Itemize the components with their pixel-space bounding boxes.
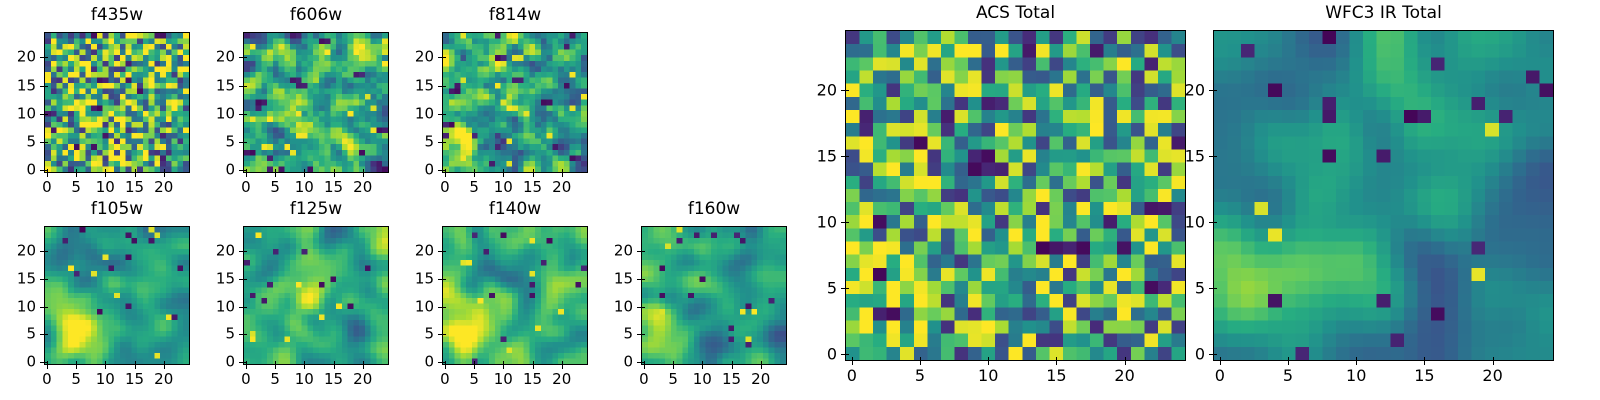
y-tick-mark-inner <box>442 170 446 171</box>
y-tick-mark-inner <box>243 57 247 58</box>
y-tick-mark-inner <box>845 222 849 223</box>
panel-title-wfc3-ir-total: WFC3 IR Total <box>1213 4 1554 22</box>
x-tick-mark-inner <box>105 169 106 173</box>
x-tick-mark <box>164 365 165 369</box>
y-tick-label: 0 <box>1171 347 1205 362</box>
y-tick-label: 5 <box>599 327 633 342</box>
y-tick-mark-inner <box>442 114 446 115</box>
x-tick-mark <box>334 365 335 369</box>
x-tick-label: 5 <box>668 372 678 387</box>
heatmap-image-f435w <box>45 33 189 172</box>
heatmap-axes-f435w <box>44 32 190 173</box>
x-tick-mark <box>474 365 475 369</box>
x-tick-label: 20 <box>1482 368 1502 383</box>
x-tick-mark-inner <box>702 361 703 365</box>
y-tick-mark-inner <box>845 354 849 355</box>
x-tick-label: 20 <box>154 372 173 387</box>
y-tick-mark-inner <box>845 90 849 91</box>
x-tick-label: 0 <box>639 372 649 387</box>
x-tick-mark <box>246 365 247 369</box>
x-tick-label: 5 <box>469 180 479 195</box>
y-tick-mark-inner <box>1213 90 1217 91</box>
x-tick-mark-inner <box>474 169 475 173</box>
x-tick-mark-inner <box>135 361 136 365</box>
x-tick-mark <box>334 173 335 177</box>
y-tick-label: 20 <box>2 50 36 65</box>
y-tick-label: 0 <box>201 355 235 370</box>
heatmap-image-f814w <box>443 33 587 172</box>
y-tick-label: 10 <box>2 106 36 121</box>
panel-f125w: f125w0510152005101520 <box>243 200 389 389</box>
y-tick-label: 0 <box>400 355 434 370</box>
y-tick-label: 10 <box>400 106 434 121</box>
x-tick-mark-inner <box>363 361 364 365</box>
panel-f140w: f140w0510152005101520 <box>442 200 588 389</box>
y-tick-label: 5 <box>2 134 36 149</box>
heatmap-image-f160w <box>642 227 786 364</box>
x-tick-mark <box>474 173 475 177</box>
heatmap-axes-f125w <box>243 226 389 365</box>
y-tick-mark-inner <box>44 362 48 363</box>
y-tick-mark-inner <box>44 307 48 308</box>
panel-title-f140w: f140w <box>442 200 588 218</box>
x-tick-label: 20 <box>751 372 770 387</box>
y-tick-mark-inner <box>641 334 645 335</box>
x-tick-mark <box>702 365 703 369</box>
x-tick-mark <box>135 365 136 369</box>
x-tick-mark <box>673 365 674 369</box>
x-tick-label: 0 <box>1215 368 1225 383</box>
x-tick-mark-inner <box>474 361 475 365</box>
x-tick-mark-inner <box>1356 357 1357 361</box>
y-tick-mark-inner <box>442 251 446 252</box>
x-tick-mark <box>1056 361 1057 365</box>
x-tick-label: 5 <box>1283 368 1293 383</box>
x-tick-mark-inner <box>164 361 165 365</box>
y-tick-label: 10 <box>2 299 36 314</box>
y-tick-label: 20 <box>599 244 633 259</box>
x-tick-mark-inner <box>852 357 853 361</box>
heatmap-image-wfc3-ir-total <box>1214 31 1553 360</box>
x-tick-label: 20 <box>552 372 571 387</box>
x-tick-label: 10 <box>978 368 998 383</box>
y-tick-label: 10 <box>201 106 235 121</box>
y-tick-label: 5 <box>201 327 235 342</box>
y-tick-label: 10 <box>1171 214 1205 229</box>
heatmap-image-f105w <box>45 227 189 364</box>
y-tick-label: 10 <box>400 299 434 314</box>
y-tick-mark-inner <box>44 142 48 143</box>
x-tick-label: 15 <box>722 372 741 387</box>
x-tick-mark <box>732 365 733 369</box>
y-tick-label: 20 <box>400 244 434 259</box>
x-tick-label: 10 <box>494 180 513 195</box>
heatmap-axes-f105w <box>44 226 190 365</box>
x-tick-mark <box>503 365 504 369</box>
panel-wfc3-ir-total: WFC3 IR Total0510152005101520 <box>1213 4 1554 385</box>
x-tick-mark <box>1125 361 1126 365</box>
x-tick-label: 20 <box>1114 368 1134 383</box>
panel-f814w: f814w0510152005101520 <box>442 6 588 197</box>
y-tick-label: 0 <box>803 347 837 362</box>
y-tick-label: 15 <box>400 271 434 286</box>
y-tick-mark-inner <box>442 307 446 308</box>
y-tick-label: 15 <box>2 78 36 93</box>
y-tick-mark-inner <box>243 170 247 171</box>
x-tick-mark <box>304 365 305 369</box>
x-tick-mark <box>533 365 534 369</box>
x-tick-mark <box>761 365 762 369</box>
y-tick-label: 0 <box>201 163 235 178</box>
y-tick-label: 20 <box>400 50 434 65</box>
x-tick-label: 10 <box>96 372 115 387</box>
y-tick-mark-inner <box>44 334 48 335</box>
y-tick-mark-inner <box>442 142 446 143</box>
panel-title-f606w: f606w <box>243 6 389 24</box>
y-tick-label: 5 <box>1171 281 1205 296</box>
x-tick-mark-inner <box>304 169 305 173</box>
x-tick-mark-inner <box>732 361 733 365</box>
y-tick-label: 20 <box>2 244 36 259</box>
x-tick-mark <box>920 361 921 365</box>
heatmap-axes-f814w <box>442 32 588 173</box>
panel-acs-total: ACS Total0510152005101520 <box>845 4 1186 385</box>
x-tick-mark <box>852 361 853 365</box>
x-tick-label: 0 <box>847 368 857 383</box>
y-tick-mark-inner <box>641 362 645 363</box>
x-tick-mark <box>164 173 165 177</box>
x-tick-label: 10 <box>295 180 314 195</box>
heatmap-image-acs-total <box>846 31 1185 360</box>
x-tick-label: 0 <box>241 180 251 195</box>
y-tick-mark-inner <box>1213 222 1217 223</box>
x-tick-mark <box>562 173 563 177</box>
y-tick-mark-inner <box>442 362 446 363</box>
x-tick-mark <box>105 365 106 369</box>
heatmap-axes-f160w <box>641 226 787 365</box>
heatmap-axes-acs-total <box>845 30 1186 361</box>
x-tick-mark-inner <box>1125 357 1126 361</box>
y-tick-mark-inner <box>442 279 446 280</box>
x-tick-mark <box>562 365 563 369</box>
x-tick-label: 15 <box>1046 368 1066 383</box>
y-tick-label: 0 <box>2 163 36 178</box>
x-tick-label: 5 <box>915 368 925 383</box>
y-tick-label: 15 <box>201 78 235 93</box>
x-tick-mark-inner <box>673 361 674 365</box>
y-tick-label: 15 <box>803 148 837 163</box>
panel-f105w: f105w0510152005101520 <box>44 200 190 389</box>
y-tick-label: 15 <box>400 78 434 93</box>
x-tick-label: 5 <box>270 372 280 387</box>
heatmap-axes-f140w <box>442 226 588 365</box>
x-tick-label: 15 <box>324 372 343 387</box>
x-tick-label: 15 <box>125 180 144 195</box>
x-tick-mark-inner <box>105 361 106 365</box>
x-tick-label: 0 <box>440 180 450 195</box>
x-tick-mark <box>47 365 48 369</box>
y-tick-label: 10 <box>599 299 633 314</box>
y-tick-label: 10 <box>201 299 235 314</box>
y-tick-mark-inner <box>1213 354 1217 355</box>
x-tick-label: 5 <box>71 372 81 387</box>
y-tick-mark-inner <box>1213 288 1217 289</box>
y-tick-mark-inner <box>243 142 247 143</box>
x-tick-label: 5 <box>270 180 280 195</box>
x-tick-mark-inner <box>988 357 989 361</box>
x-tick-mark-inner <box>275 361 276 365</box>
panel-f606w: f606w0510152005101520 <box>243 6 389 197</box>
heatmap-axes-wfc3-ir-total <box>1213 30 1554 361</box>
y-tick-mark-inner <box>44 251 48 252</box>
x-tick-label: 0 <box>440 372 450 387</box>
x-tick-mark-inner <box>334 169 335 173</box>
x-tick-mark <box>275 365 276 369</box>
panel-f160w: f160w0510152005101520 <box>641 200 787 389</box>
x-tick-mark-inner <box>1220 357 1221 361</box>
y-tick-label: 20 <box>803 82 837 97</box>
x-tick-mark <box>363 365 364 369</box>
x-tick-mark <box>644 365 645 369</box>
y-tick-label: 0 <box>400 163 434 178</box>
heatmap-axes-f606w <box>243 32 389 173</box>
y-tick-mark-inner <box>243 279 247 280</box>
x-tick-label: 0 <box>42 180 52 195</box>
y-tick-mark-inner <box>243 307 247 308</box>
x-tick-mark-inner <box>275 169 276 173</box>
y-tick-label: 5 <box>803 281 837 296</box>
heatmap-image-f606w <box>244 33 388 172</box>
y-tick-label: 0 <box>2 355 36 370</box>
y-tick-mark-inner <box>442 86 446 87</box>
x-tick-mark-inner <box>76 361 77 365</box>
y-tick-label: 5 <box>201 134 235 149</box>
x-tick-mark-inner <box>533 361 534 365</box>
x-tick-label: 20 <box>353 180 372 195</box>
x-tick-mark-inner <box>1424 357 1425 361</box>
x-tick-mark-inner <box>164 169 165 173</box>
x-tick-mark <box>76 365 77 369</box>
x-tick-label: 20 <box>154 180 173 195</box>
panel-title-f125w: f125w <box>243 200 389 218</box>
x-tick-label: 10 <box>295 372 314 387</box>
x-tick-mark <box>988 361 989 365</box>
heatmap-image-f140w <box>443 227 587 364</box>
x-tick-mark <box>445 365 446 369</box>
x-tick-mark <box>246 173 247 177</box>
y-tick-label: 0 <box>599 355 633 370</box>
x-tick-mark <box>1493 361 1494 365</box>
x-tick-label: 0 <box>42 372 52 387</box>
x-tick-mark-inner <box>562 169 563 173</box>
y-tick-mark-inner <box>243 362 247 363</box>
x-tick-mark-inner <box>920 357 921 361</box>
panel-title-acs-total: ACS Total <box>845 4 1186 22</box>
y-tick-mark-inner <box>243 86 247 87</box>
panel-title-f160w: f160w <box>641 200 787 218</box>
x-tick-label: 15 <box>324 180 343 195</box>
y-tick-mark-inner <box>243 114 247 115</box>
y-tick-label: 15 <box>201 271 235 286</box>
x-tick-mark <box>533 173 534 177</box>
x-tick-mark <box>304 173 305 177</box>
y-tick-mark-inner <box>1213 156 1217 157</box>
x-tick-mark <box>1424 361 1425 365</box>
x-tick-mark <box>105 173 106 177</box>
x-tick-mark-inner <box>304 361 305 365</box>
x-tick-mark <box>275 173 276 177</box>
x-tick-mark-inner <box>1056 357 1057 361</box>
x-tick-mark <box>76 173 77 177</box>
y-tick-label: 20 <box>201 50 235 65</box>
y-tick-label: 5 <box>400 327 434 342</box>
x-tick-mark-inner <box>135 169 136 173</box>
panel-title-f435w: f435w <box>44 6 190 24</box>
x-tick-label: 10 <box>494 372 513 387</box>
x-tick-label: 5 <box>71 180 81 195</box>
x-tick-mark-inner <box>503 361 504 365</box>
x-tick-mark <box>1288 361 1289 365</box>
y-tick-label: 20 <box>201 244 235 259</box>
x-tick-mark <box>503 173 504 177</box>
x-tick-mark-inner <box>334 361 335 365</box>
x-tick-mark-inner <box>363 169 364 173</box>
figure-canvas: f435w0510152005101520f606w05101520051015… <box>0 0 1600 400</box>
x-tick-mark-inner <box>1288 357 1289 361</box>
x-tick-label: 0 <box>241 372 251 387</box>
y-tick-label: 15 <box>599 271 633 286</box>
y-tick-mark-inner <box>641 279 645 280</box>
y-tick-label: 10 <box>803 214 837 229</box>
x-tick-label: 10 <box>693 372 712 387</box>
x-tick-label: 10 <box>96 180 115 195</box>
x-tick-label: 15 <box>523 372 542 387</box>
x-tick-label: 20 <box>353 372 372 387</box>
x-tick-mark <box>363 173 364 177</box>
x-tick-mark-inner <box>533 169 534 173</box>
y-tick-mark-inner <box>44 279 48 280</box>
y-tick-mark-inner <box>641 307 645 308</box>
x-tick-label: 20 <box>552 180 571 195</box>
x-tick-mark <box>1356 361 1357 365</box>
y-tick-mark-inner <box>845 288 849 289</box>
y-tick-label: 5 <box>400 134 434 149</box>
y-tick-mark-inner <box>243 251 247 252</box>
x-tick-mark-inner <box>76 169 77 173</box>
x-tick-label: 15 <box>523 180 542 195</box>
x-tick-mark <box>1220 361 1221 365</box>
y-tick-mark-inner <box>442 57 446 58</box>
x-tick-label: 10 <box>1346 368 1366 383</box>
x-tick-mark <box>445 173 446 177</box>
x-tick-label: 5 <box>469 372 479 387</box>
y-tick-mark-inner <box>44 86 48 87</box>
x-tick-mark-inner <box>761 361 762 365</box>
panel-title-f814w: f814w <box>442 6 588 24</box>
y-tick-label: 5 <box>2 327 36 342</box>
y-tick-label: 15 <box>1171 148 1205 163</box>
y-tick-mark-inner <box>641 251 645 252</box>
y-tick-mark-inner <box>44 57 48 58</box>
y-tick-mark-inner <box>243 334 247 335</box>
panel-f435w: f435w0510152005101520 <box>44 6 190 197</box>
heatmap-image-f125w <box>244 227 388 364</box>
y-tick-label: 15 <box>2 271 36 286</box>
x-tick-mark-inner <box>1493 357 1494 361</box>
x-tick-label: 15 <box>125 372 144 387</box>
x-tick-mark-inner <box>503 169 504 173</box>
x-tick-mark <box>47 173 48 177</box>
y-tick-mark-inner <box>442 334 446 335</box>
x-tick-label: 15 <box>1414 368 1434 383</box>
y-tick-label: 20 <box>1171 82 1205 97</box>
y-tick-mark-inner <box>44 170 48 171</box>
x-tick-mark-inner <box>562 361 563 365</box>
x-tick-mark <box>135 173 136 177</box>
panel-title-f105w: f105w <box>44 200 190 218</box>
y-tick-mark-inner <box>845 156 849 157</box>
y-tick-mark-inner <box>44 114 48 115</box>
